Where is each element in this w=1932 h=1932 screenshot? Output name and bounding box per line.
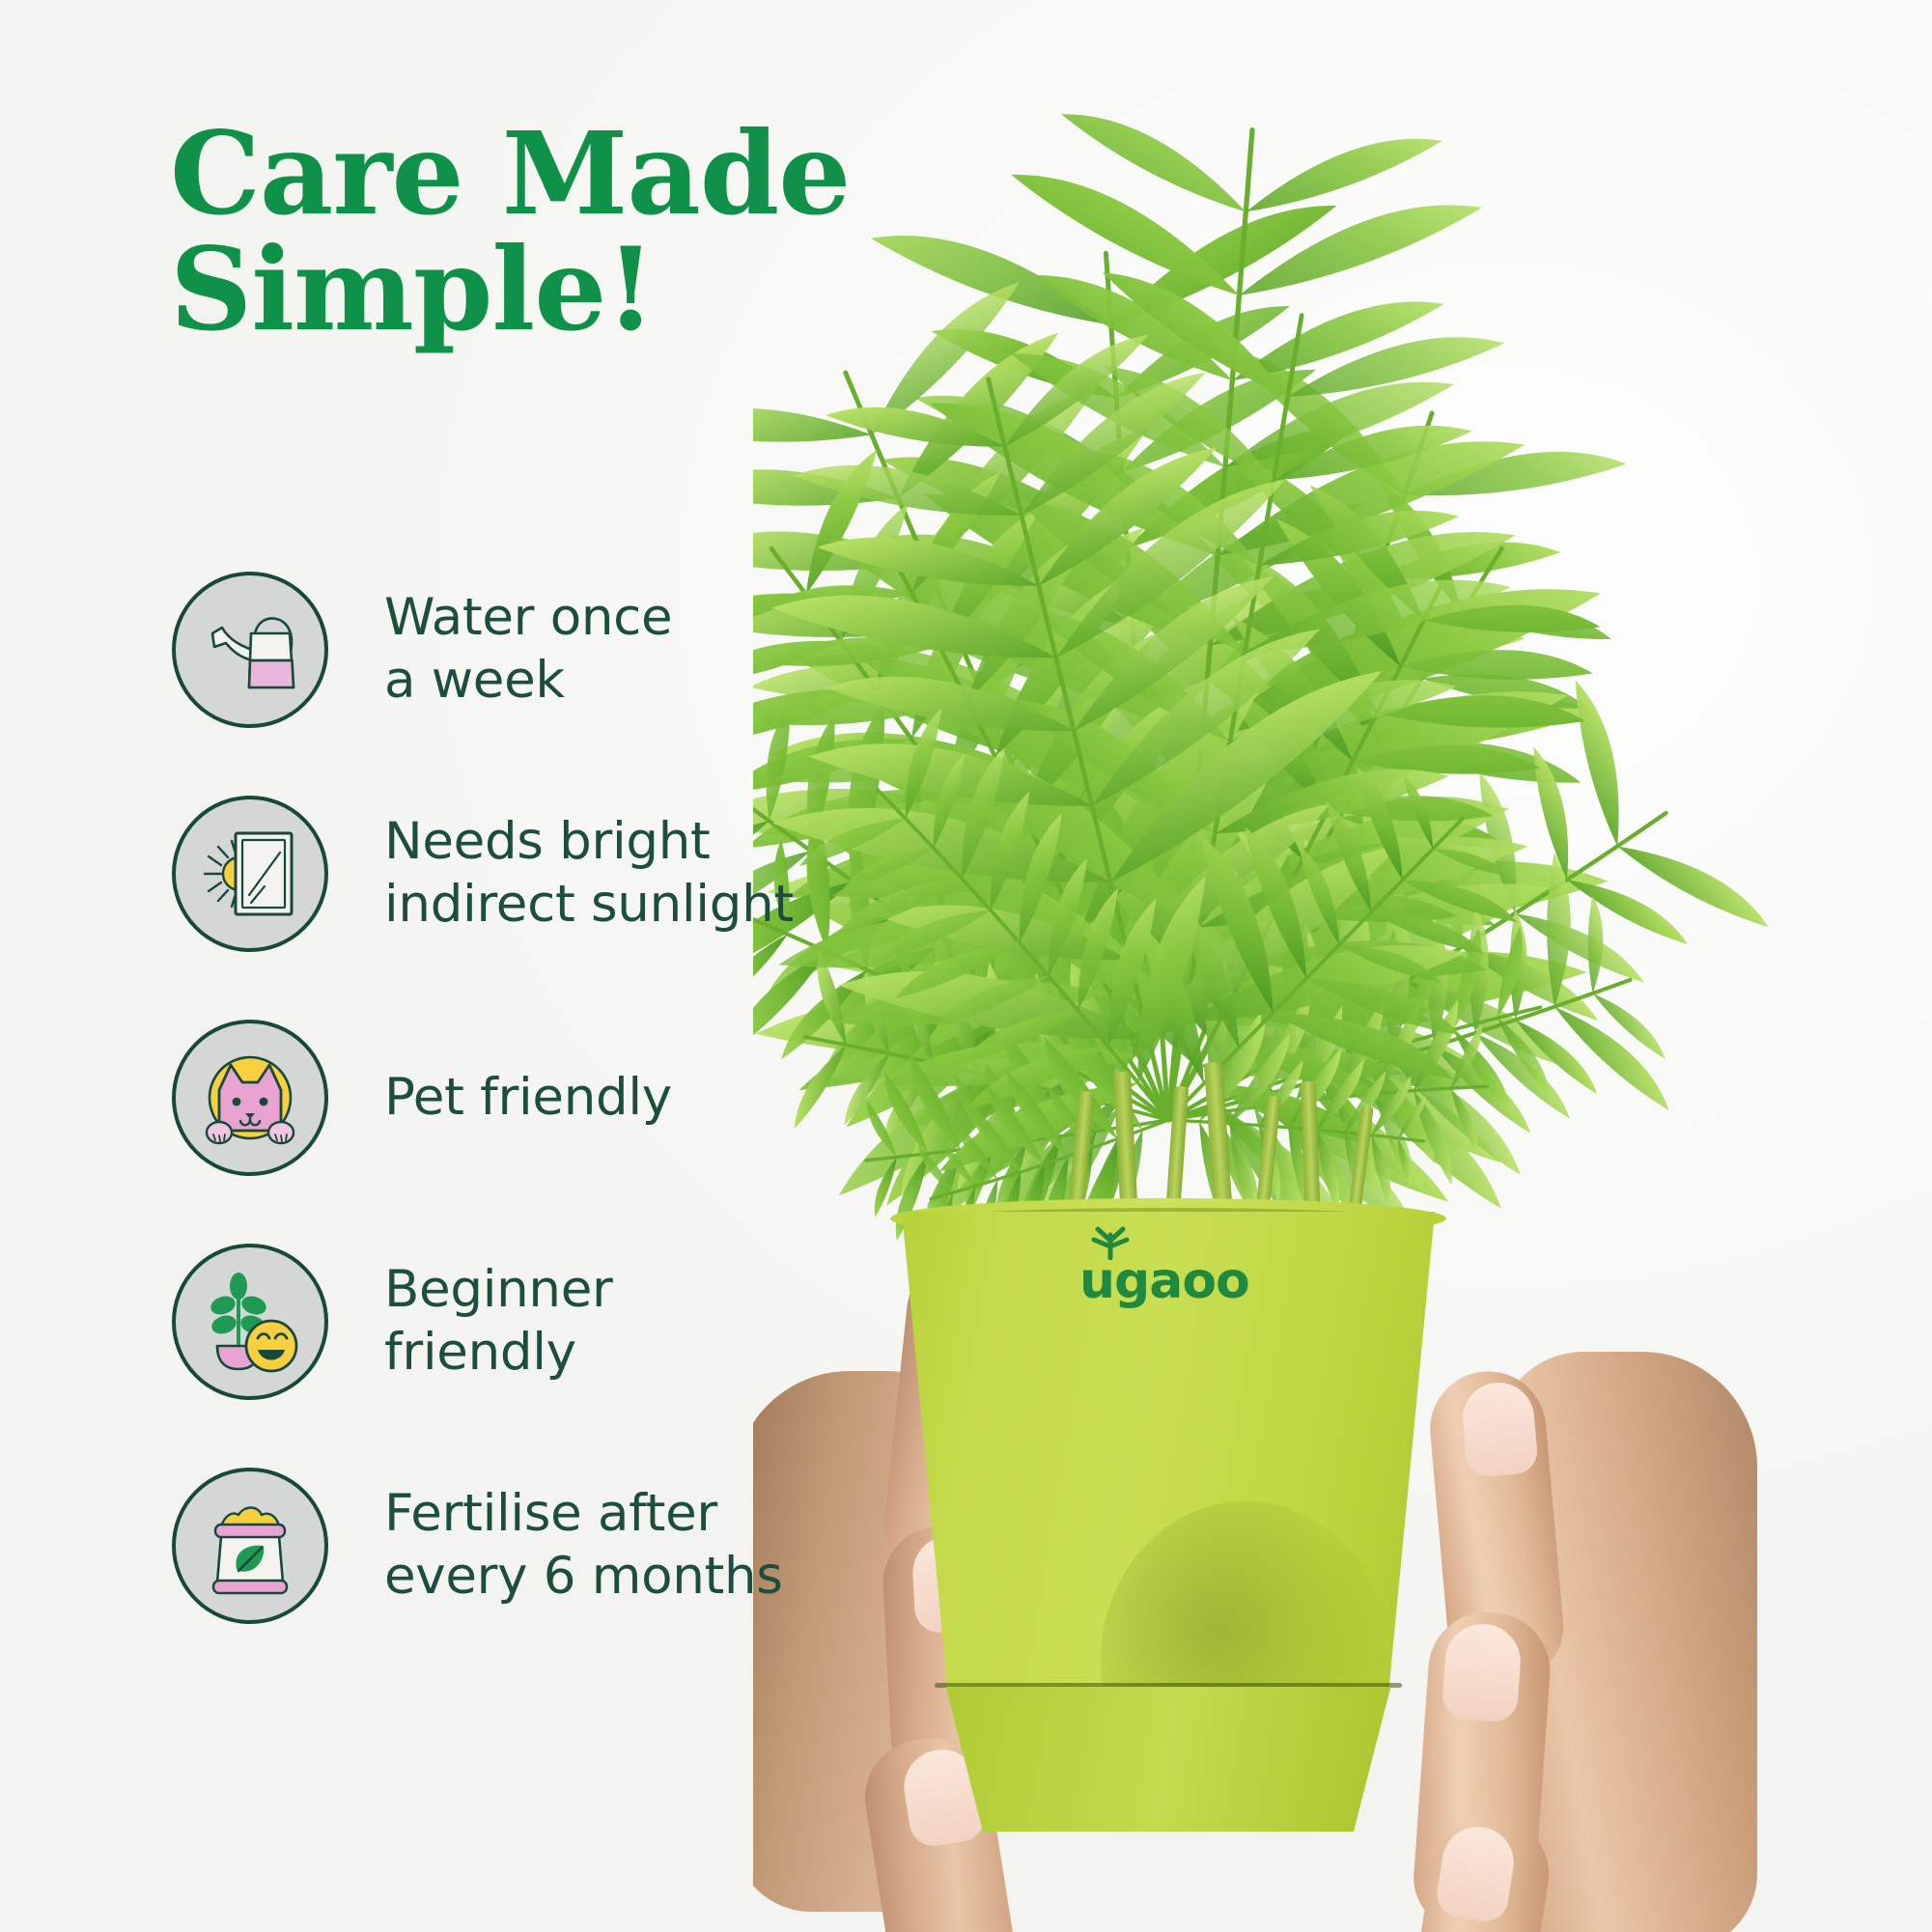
sprout-icon [1085, 1221, 1135, 1260]
watering-can-icon [172, 572, 328, 728]
pot-water-reservoir [937, 1687, 1400, 1832]
plant-pot: ugaoo [879, 1212, 1458, 1830]
feature-label-fertilise: Fertilise after every 6 months [384, 1483, 783, 1608]
sun-window-icon [172, 796, 328, 952]
fertiliser-bag-icon [172, 1468, 328, 1624]
feature-label-sunlight: Needs bright indirect sunlight [384, 811, 794, 936]
page-title-line-1: Care Made [170, 116, 904, 232]
feature-row-sunlight: Needs bright indirect sunlight [172, 796, 867, 952]
cat-face-icon [172, 1020, 328, 1176]
potted-plant-smiley-icon [172, 1244, 328, 1400]
page-title: Care Made Simple! [170, 116, 904, 349]
ugaoo-wordmark: ugaoo [1079, 1252, 1249, 1310]
ugaoo-logo: ugaoo [1079, 1256, 1292, 1306]
product-photo: ugaoo [753, 0, 1932, 1932]
feature-label-pet: Pet friendly [384, 1067, 672, 1130]
feature-row-pet: Pet friendly [172, 1020, 867, 1176]
feature-label-water: Water once a week [384, 587, 672, 712]
feature-row-water: Water once a week [172, 572, 867, 728]
care-feature-list: Water once a week [172, 572, 867, 1692]
feature-row-fertilise: Fertilise after every 6 months [172, 1468, 867, 1624]
promo-card: ugaoo Care Made Simple! [0, 0, 1932, 1932]
palm-foliage [753, 0, 1932, 1274]
feature-row-beginner: Beginner friendly [172, 1244, 867, 1400]
feature-label-beginner: Beginner friendly [384, 1259, 613, 1384]
page-title-line-2: Simple! [170, 232, 904, 348]
